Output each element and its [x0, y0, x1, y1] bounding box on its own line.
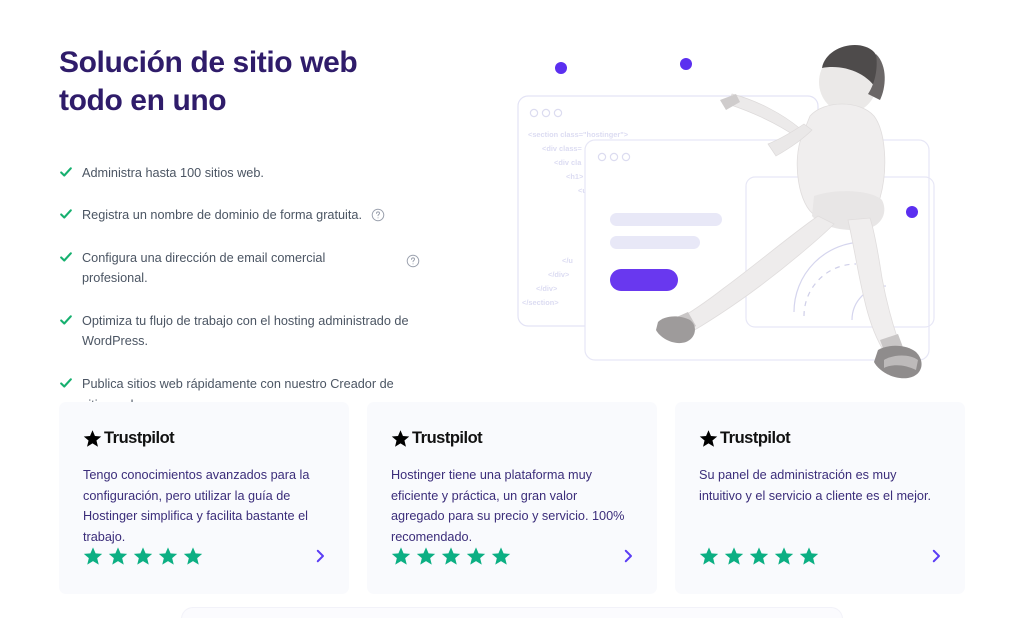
- accent-dot-icon: [555, 62, 567, 74]
- svg-text:</div>: </div>: [548, 270, 570, 279]
- svg-text:<section class="hostinger">: <section class="hostinger">: [528, 130, 629, 139]
- review-card-footer: [391, 546, 637, 566]
- help-circle-icon[interactable]: [406, 254, 420, 268]
- review-card-footer: [699, 546, 945, 566]
- hero-illustration: <section class="hostinger"> <div class= …: [492, 20, 1024, 380]
- next-section-panel: [181, 607, 843, 618]
- check-icon: [59, 250, 73, 264]
- trustpilot-star-icon: [391, 429, 410, 448]
- star-icon: [799, 546, 819, 566]
- help-circle-icon[interactable]: [371, 208, 385, 222]
- review-cards: Trustpilot Tengo conocimientos avanzados…: [59, 402, 965, 594]
- review-quote: Hostinger tiene una plataforma muy efici…: [391, 465, 633, 548]
- cta-button-shape: [610, 269, 678, 291]
- star-icon: [158, 546, 178, 566]
- svg-text:</u: </u: [562, 256, 573, 265]
- landing-page: Solución de sitio web todo en uno Admini…: [0, 0, 1024, 618]
- hero-text-column: Solución de sitio web todo en uno Admini…: [59, 44, 459, 437]
- page-title: Solución de sitio web todo en uno: [59, 44, 389, 120]
- svg-text:<div class=: <div class=: [542, 144, 583, 153]
- review-quote: Tengo conocimientos avanzados para la co…: [83, 465, 325, 548]
- star-icon: [83, 546, 103, 566]
- star-rating: [391, 546, 511, 566]
- chevron-right-icon[interactable]: [311, 547, 329, 565]
- star-icon: [699, 546, 719, 566]
- star-icon: [491, 546, 511, 566]
- check-icon: [59, 313, 73, 327]
- trustpilot-logo: Trustpilot: [391, 428, 633, 448]
- review-quote: Su panel de administración es muy intuit…: [699, 465, 941, 506]
- svg-text:<div cla: <div cla: [554, 158, 582, 167]
- star-icon: [183, 546, 203, 566]
- review-card-3[interactable]: Trustpilot Su panel de administración es…: [675, 402, 965, 594]
- feature-item-1: Administra hasta 100 sitios web.: [59, 163, 439, 184]
- trustpilot-logo: Trustpilot: [699, 428, 941, 448]
- star-icon: [441, 546, 461, 566]
- star-icon: [724, 546, 744, 566]
- feature-list: Administra hasta 100 sitios web. Registr…: [59, 163, 459, 416]
- chevron-right-icon[interactable]: [619, 547, 637, 565]
- svg-text:</div>: </div>: [536, 284, 558, 293]
- feature-label: Administra hasta 100 sitios web.: [82, 163, 264, 184]
- star-icon: [416, 546, 436, 566]
- check-icon: [59, 376, 73, 390]
- accent-dot-icon: [906, 206, 918, 218]
- svg-text:</section>: </section>: [522, 298, 559, 307]
- review-card-1[interactable]: Trustpilot Tengo conocimientos avanzados…: [59, 402, 349, 594]
- review-card-2[interactable]: Trustpilot Hostinger tiene una plataform…: [367, 402, 657, 594]
- trustpilot-wordmark: Trustpilot: [412, 429, 482, 448]
- star-rating: [83, 546, 203, 566]
- svg-text:<h1>: <h1>: [566, 172, 584, 181]
- feature-item-4: Optimiza tu flujo de trabajo con el host…: [59, 311, 439, 352]
- check-icon: [59, 165, 73, 179]
- star-icon: [133, 546, 153, 566]
- review-card-footer: [83, 546, 329, 566]
- trustpilot-star-icon: [699, 429, 718, 448]
- feature-label: Configura una dirección de email comerci…: [82, 248, 340, 289]
- chevron-right-icon[interactable]: [927, 547, 945, 565]
- trustpilot-wordmark: Trustpilot: [104, 429, 174, 448]
- star-rating: [699, 546, 819, 566]
- feature-label: Registra un nombre de dominio de forma g…: [82, 205, 362, 226]
- feature-item-3: Configura una dirección de email comerci…: [59, 248, 439, 289]
- star-icon: [108, 546, 128, 566]
- feature-label: Optimiza tu flujo de trabajo con el host…: [82, 311, 427, 352]
- feature-item-2: Registra un nombre de dominio de forma g…: [59, 205, 439, 226]
- check-icon: [59, 207, 73, 221]
- star-icon: [391, 546, 411, 566]
- trustpilot-logo: Trustpilot: [83, 428, 325, 448]
- star-icon: [466, 546, 486, 566]
- trustpilot-star-icon: [83, 429, 102, 448]
- star-icon: [749, 546, 769, 566]
- star-icon: [774, 546, 794, 566]
- trustpilot-wordmark: Trustpilot: [720, 429, 790, 448]
- accent-dot-icon: [680, 58, 692, 70]
